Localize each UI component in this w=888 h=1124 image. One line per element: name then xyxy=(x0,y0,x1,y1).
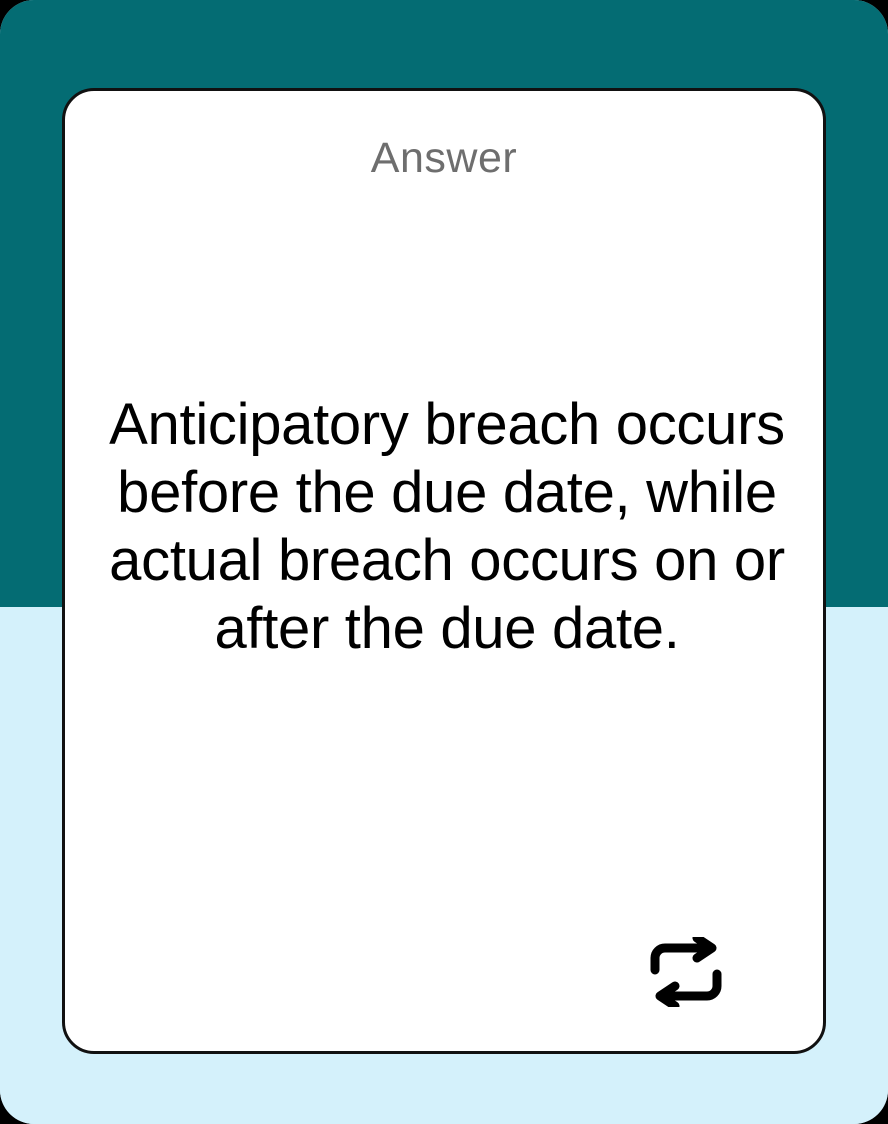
repeat-icon xyxy=(648,937,724,1007)
card-answer-text: Anticipatory breach occurs before the du… xyxy=(105,391,789,663)
repeat-button[interactable] xyxy=(643,929,729,1015)
flashcard[interactable]: Answer Anticipatory breach occurs before… xyxy=(62,88,826,1054)
card-title: Answer xyxy=(65,137,823,180)
app-frame: Answer Anticipatory breach occurs before… xyxy=(0,0,888,1124)
